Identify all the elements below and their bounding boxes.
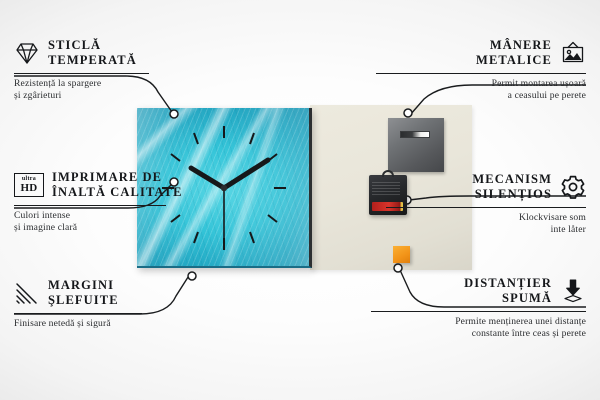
- callout-rule: [376, 73, 586, 74]
- callout-rule: [14, 205, 166, 206]
- callout-sub-line2: a ceasului pe perete: [376, 90, 586, 102]
- ultra-hd-badge-icon: ultra HD: [14, 173, 44, 197]
- picture-frame-hanger-icon: [560, 40, 586, 66]
- callout-header: MÂNERE METALICE: [376, 38, 586, 68]
- callout-rule: [14, 313, 142, 314]
- infographic-canvas: STICLĂ TEMPERATĂ Rezistență la spargere …: [0, 0, 600, 400]
- callout-sub-line2: și zgârieturi: [14, 90, 214, 102]
- callout-sticla-temperata: STICLĂ TEMPERATĂ Rezistență la spargere …: [14, 38, 214, 102]
- callout-sub-line1: Rezistență la spargere: [14, 78, 214, 90]
- hanger-slot: [400, 131, 430, 138]
- callout-title-line2: SPUMĂ: [464, 291, 552, 306]
- diagonal-lines-icon: [14, 280, 40, 306]
- callout-header: STICLĂ TEMPERATĂ: [14, 38, 214, 68]
- callout-title-line1: DISTANȚIER: [464, 276, 552, 291]
- callout-title-line1: STICLĂ: [48, 38, 137, 53]
- callout-title-line1: MARGINI: [48, 278, 119, 293]
- hd-badge-large-text: HD: [20, 183, 37, 194]
- callout-title-line1: MÂNERE: [476, 38, 552, 53]
- callout-sub-line2: inte låter: [386, 224, 586, 236]
- callout-title: STICLĂ TEMPERATĂ: [48, 38, 137, 68]
- callout-imprimare-inalta-calitate: ultra HD IMPRIMARE DE ÎNALTĂ CALITATE Cu…: [14, 170, 229, 234]
- callout-rule: [386, 207, 586, 208]
- hd-badge-small-text: ultra: [22, 176, 36, 182]
- callout-sub-line1: Culori intense: [14, 210, 229, 222]
- callout-title-line2: ÎNALTĂ CALITATE: [52, 185, 183, 200]
- callout-title: IMPRIMARE DE ÎNALTĂ CALITATE: [52, 170, 183, 200]
- diamond-icon: [14, 40, 40, 66]
- callout-title-line1: IMPRIMARE DE: [52, 170, 183, 185]
- callout-subtitle: Klockvisare som inte låter: [386, 212, 586, 237]
- callout-subtitle: Culori intense și imagine clară: [14, 210, 229, 235]
- callout-title-line1: MECANISM: [472, 172, 552, 187]
- callout-title-line2: SILENȚIOS: [472, 187, 552, 202]
- callout-rule: [14, 73, 149, 74]
- callout-manere-metalice: MÂNERE METALICE Permit montarea ușoară a…: [376, 38, 586, 102]
- callout-sub-line1: Permit montarea ușoară: [376, 78, 586, 90]
- callout-title: MÂNERE METALICE: [476, 38, 552, 68]
- callout-subtitle: Permit montarea ușoară a ceasului pe per…: [376, 78, 586, 103]
- callout-header: MECANISM SILENȚIOS: [386, 172, 586, 202]
- foam-spacer: [393, 246, 410, 263]
- callout-title-line2: METALICE: [476, 53, 552, 68]
- callout-title-line2: ŞLEFUITE: [48, 293, 119, 308]
- callout-margini-slefuite: MARGINI ŞLEFUITE Finisare netedă și sigu…: [14, 278, 214, 330]
- callout-sub-line2: constante între ceas și perete: [371, 328, 586, 340]
- callout-header: MARGINI ŞLEFUITE: [14, 278, 214, 308]
- metal-hanger-plate: [388, 118, 444, 172]
- callout-subtitle: Finisare netedă și sigură: [14, 318, 214, 330]
- callout-subtitle: Rezistență la spargere și zgârieturi: [14, 78, 214, 103]
- callout-title-line2: TEMPERATĂ: [48, 53, 137, 68]
- callout-rule: [371, 311, 586, 312]
- callout-sub-line1: Permite menținerea unei distanțe: [371, 316, 586, 328]
- callout-subtitle: Permite menținerea unei distanțe constan…: [371, 316, 586, 341]
- callout-distantier-spuma: DISTANȚIER SPUMĂ Permite menținerea unei…: [371, 276, 586, 340]
- callout-title: DISTANȚIER SPUMĂ: [464, 276, 552, 306]
- gear-icon: [560, 174, 586, 200]
- callout-mecanism-silentios: MECANISM SILENȚIOS Klockvisare som inte …: [386, 172, 586, 236]
- foam-spacer-arrow-icon: [560, 278, 586, 304]
- callout-sub-line2: și imagine clară: [14, 222, 229, 234]
- callout-title: MECANISM SILENȚIOS: [472, 172, 552, 202]
- callout-sub-line1: Finisare netedă și sigură: [14, 318, 214, 330]
- callout-title: MARGINI ŞLEFUITE: [48, 278, 119, 308]
- callout-header: DISTANȚIER SPUMĂ: [371, 276, 586, 306]
- callout-header: ultra HD IMPRIMARE DE ÎNALTĂ CALITATE: [14, 170, 229, 200]
- callout-sub-line1: Klockvisare som: [386, 212, 586, 224]
